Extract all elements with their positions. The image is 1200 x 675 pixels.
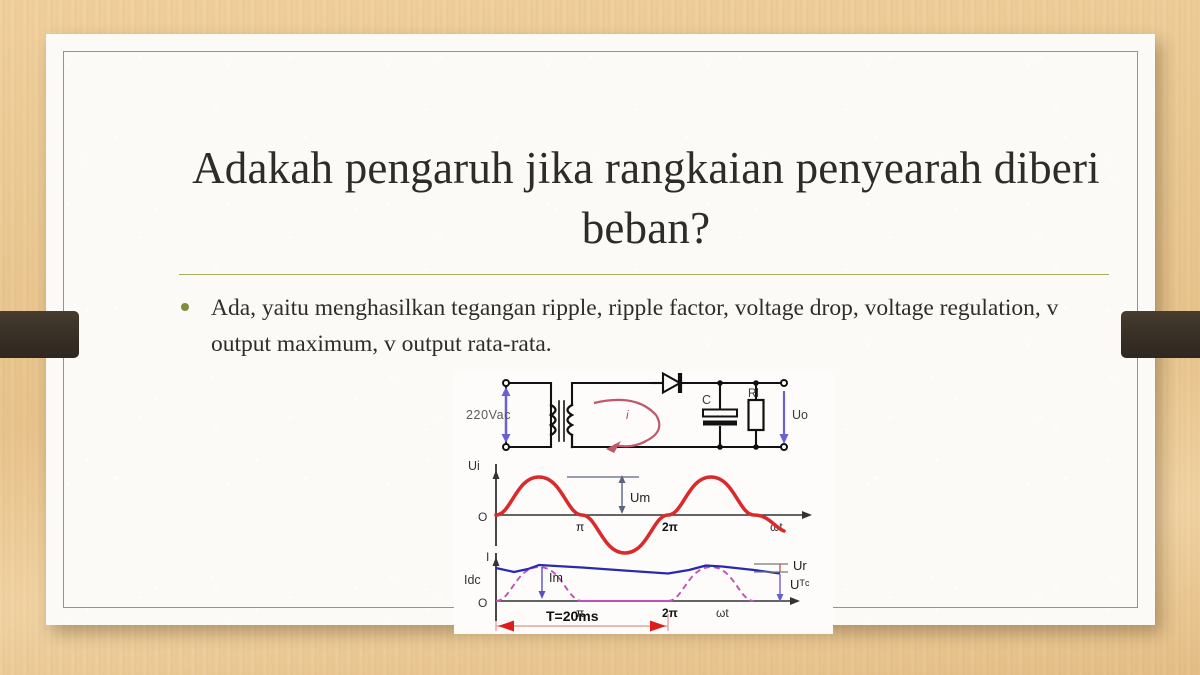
decorative-tab-right xyxy=(1121,311,1200,358)
rectifier-figure-image: 220Vac C Rl Uo i xyxy=(454,371,833,634)
chart-i-ur-label: Ur xyxy=(793,558,807,573)
chart-i-ylabel: I xyxy=(486,550,489,564)
resistor-label: Rl xyxy=(748,388,759,400)
chart-i-udc-label: Uᵀᶜ xyxy=(790,577,810,592)
chart-ui-origin-label: O xyxy=(478,510,487,524)
chart-ui-tick-2pi: 2π xyxy=(662,520,678,534)
list-item-text: Ada, yaitu menghasilkan tegangan ripple,… xyxy=(211,295,1058,357)
list-item: Ada, yaitu menghasilkan tegangan ripple,… xyxy=(179,291,1104,363)
decorative-tab-left xyxy=(0,311,79,358)
capacitor-icon xyxy=(703,410,737,424)
resistor-icon xyxy=(749,400,764,430)
output-label: Uo xyxy=(792,408,808,422)
chart-ui-ylabel: Ui xyxy=(468,459,480,473)
chart-i-tick-2pi: 2π xyxy=(662,606,678,620)
slide: Adakah pengaruh jika rangkaian penyearah… xyxy=(0,0,1200,675)
current-label: i xyxy=(626,408,629,422)
chart-i-im-label: Im xyxy=(549,571,563,585)
title-divider xyxy=(179,274,1109,275)
capacitor-label: C xyxy=(702,393,711,407)
slide-card: Adakah pengaruh jika rangkaian penyearah… xyxy=(46,34,1155,625)
body-content: Ada, yaitu menghasilkan tegangan ripple,… xyxy=(179,291,1104,363)
chart-i-period-label: T=20ms xyxy=(546,608,599,624)
chart-i-xlabel: ωt xyxy=(716,606,729,620)
source-label: 220Vac xyxy=(466,408,511,422)
bullet-icon xyxy=(181,303,189,311)
chart-ui-tick-pi: π xyxy=(576,520,584,534)
chart-ui-um-label: Um xyxy=(630,490,650,505)
chart-i-origin-label: O xyxy=(478,596,487,610)
page-title: Adakah pengaruh jika rangkaian penyearah… xyxy=(176,138,1116,259)
chart-i-idc-label: Idc xyxy=(464,573,481,587)
